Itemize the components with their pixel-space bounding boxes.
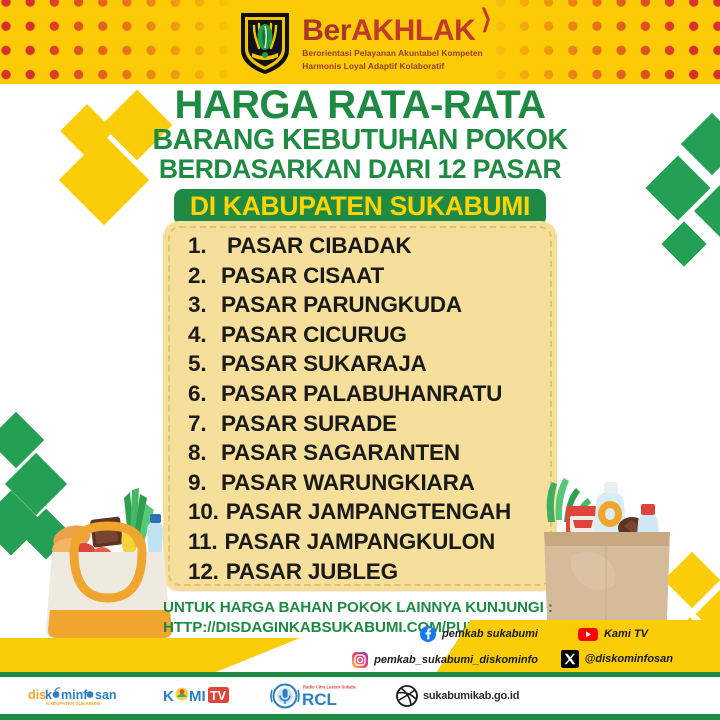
list-item-number: 7. — [188, 409, 214, 439]
brand-tagline-line2: Harmonis Loyal Adaptif Kolaboratif — [302, 61, 482, 72]
partner-website-label: sukabumikab.go.id — [423, 690, 519, 702]
header-banner: BerAKHLAK❭ Berorientasi Pelayanan Akunta… — [0, 0, 720, 84]
list-item-label: PASAR CICURUG — [221, 320, 407, 350]
social-x-label: @diskominfosan — [585, 653, 673, 665]
diskominfosan-logo-icon: dis k minf san KABUPATEN SUKABUMI — [26, 684, 122, 708]
chevron-right-icon: ❭ — [478, 6, 493, 31]
youtube-icon — [578, 626, 598, 642]
list-item-label: PASAR SAGARANTEN — [221, 438, 460, 468]
list-item: 3.PASAR PARUNGKUDA — [188, 290, 547, 320]
kami-tv-logo-icon: K MI TV — [162, 684, 230, 708]
list-item: 4.PASAR CICURUG — [188, 320, 547, 350]
list-item-label: PASAR JUBLEG — [226, 557, 398, 587]
list-item-label: PASAR PALABUHANRATU — [221, 379, 502, 409]
social-instagram[interactable]: pemkab_sukabumi_diskominfo — [352, 652, 538, 668]
title-block: HARGA RATA-RATA BARANG KEBUTUHAN POKOK B… — [0, 86, 720, 226]
brand-suffix: AKHLAK — [351, 14, 475, 47]
globe-icon — [396, 685, 418, 707]
facebook-icon — [420, 626, 436, 642]
brand-tagline-line1: Berorientasi Pelayanan Akuntabel Kompete… — [302, 48, 482, 59]
list-item-label: PASAR JAMPANGKULON — [224, 527, 495, 557]
list-item-label: PASAR CIBADAK — [227, 231, 412, 261]
brand-prefix: Ber — [302, 14, 351, 47]
list-item: 12.PASAR JUBLEG — [188, 557, 547, 587]
list-item-number: 11. — [188, 527, 217, 557]
svg-text:K: K — [163, 688, 174, 705]
title-subline-2: BERDASARKAN DARI 12 PASAR — [0, 156, 720, 183]
svg-text:RCL: RCL — [302, 690, 337, 709]
partner-kami-tv[interactable]: K MI TV — [162, 684, 230, 708]
social-youtube[interactable]: Kami TV — [578, 626, 648, 642]
instagram-icon — [352, 652, 368, 668]
svg-text:minf: minf — [61, 688, 88, 702]
berakhlak-brand: BerAKHLAK❭ Berorientasi Pelayanan Akunta… — [302, 16, 482, 72]
title-subline-1: BARANG KEBUTUHAN POKOK — [0, 126, 720, 155]
list-item: 7.PASAR SURADE — [188, 409, 547, 439]
list-item-number: 1. — [188, 231, 220, 261]
list-item-number: 12. — [188, 557, 219, 587]
brand-wordmark: BerAKHLAK❭ — [302, 16, 482, 46]
list-item: 11.PASAR JAMPANGKULON — [188, 527, 547, 557]
market-list: 1.PASAR CIBADAK 2.PASAR CISAAT 3.PASAR P… — [188, 231, 547, 586]
list-item-number: 5. — [188, 349, 214, 379]
social-facebook-label: pemkab sukabumi — [442, 628, 538, 640]
page-title: HARGA RATA-RATA — [0, 86, 720, 125]
list-item-number: 4. — [188, 320, 214, 350]
list-item: 6.PASAR PALABUHANRATU — [188, 379, 547, 409]
social-instagram-label: pemkab_sukabumi_diskominfo — [374, 654, 538, 666]
list-item-label: PASAR CISAAT — [221, 261, 384, 291]
list-item-number: 6. — [188, 379, 214, 409]
list-item-number: 10. — [188, 497, 219, 527]
svg-text:KABUPATEN SUKABUMI: KABUPATEN SUKABUMI — [46, 701, 100, 706]
svg-text:Radio Citra Lestari Sukabumi: Radio Citra Lestari Sukabumi — [303, 684, 356, 689]
social-facebook[interactable]: pemkab sukabumi — [420, 626, 538, 642]
partner-rcl-radio[interactable]: Radio Citra Lestari Sukabumi RCL — [270, 683, 356, 709]
list-item: 1.PASAR CIBADAK — [188, 231, 547, 261]
partner-diskominfosan[interactable]: dis k minf san KABUPATEN SUKABUMI — [26, 684, 122, 708]
list-item: 8.PASAR SAGARANTEN — [188, 438, 547, 468]
svg-text:k: k — [45, 688, 52, 702]
list-item-label: PASAR SUKARAJA — [221, 349, 427, 379]
list-item-number: 2. — [188, 261, 214, 291]
svg-text:san: san — [95, 688, 117, 702]
list-item: 10.PASAR JAMPANGTENGAH — [188, 497, 547, 527]
list-item-label: PASAR JAMPANGTENGAH — [226, 497, 511, 527]
list-item-label: PASAR SURADE — [221, 409, 397, 439]
rcl-radio-logo-icon: Radio Citra Lestari Sukabumi RCL — [270, 683, 356, 709]
list-item-label: PASAR PARUNGKUDA — [221, 290, 462, 320]
svg-text:TV: TV — [210, 689, 227, 703]
svg-text:MI: MI — [189, 688, 206, 705]
poster-canvas: BerAKHLAK❭ Berorientasi Pelayanan Akunta… — [0, 0, 720, 720]
sukabumi-regency-emblem-icon — [237, 10, 293, 76]
partner-sukabumikab-website[interactable]: sukabumikab.go.id — [396, 685, 519, 707]
list-item-number: 3. — [188, 290, 214, 320]
list-item: 2.PASAR CISAAT — [188, 261, 547, 291]
list-item: 5.PASAR SUKARAJA — [188, 349, 547, 379]
cta-line-1: UNTUK HARGA BAHAN POKOK LAINNYA KUNJUNGI… — [163, 598, 553, 618]
footer-partner-bar: dis k minf san KABUPATEN SUKABUMI K MI — [0, 672, 720, 720]
footer-yellow-wedge — [0, 638, 300, 672]
list-item-label: PASAR WARUNGKIARA — [221, 468, 475, 498]
x-twitter-icon — [561, 650, 579, 668]
list-item-number: 8. — [188, 438, 214, 468]
list-item: 9.PASAR WARUNGKIARA — [188, 468, 547, 498]
social-x[interactable]: @diskominfosan — [561, 650, 673, 668]
social-youtube-label: Kami TV — [604, 628, 648, 640]
market-list-card: 1.PASAR CIBADAK 2.PASAR CISAAT 3.PASAR P… — [163, 221, 557, 591]
svg-text:dis: dis — [28, 688, 46, 702]
list-item-number: 9. — [188, 468, 214, 498]
decor-diamond-green-small — [661, 221, 706, 266]
